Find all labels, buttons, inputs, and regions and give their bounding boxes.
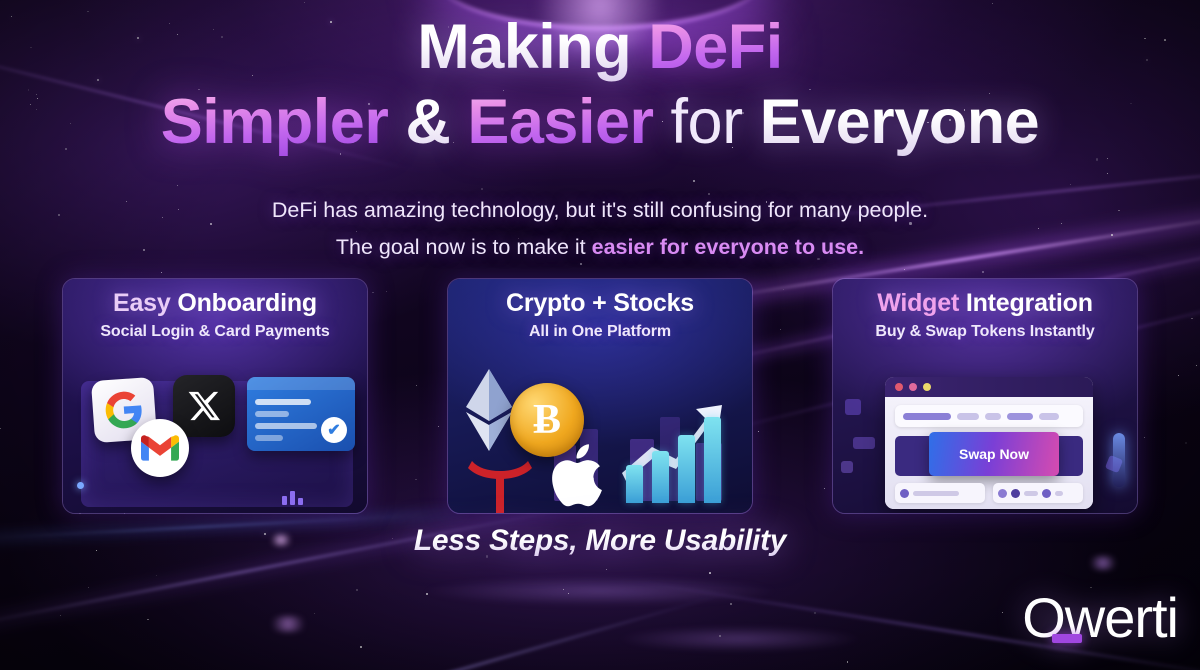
card-title: Widget Integration — [841, 289, 1129, 318]
subtitle: DeFi has amazing technology, but it's st… — [0, 192, 1200, 266]
headline-ampersand: & — [388, 87, 467, 157]
headline-easier: Easier — [467, 87, 653, 157]
card-subtitle: All in One Platform — [456, 323, 744, 341]
headline-line-2: Simpler & Easier for Everyone — [0, 91, 1200, 154]
apple-icon — [548, 441, 614, 511]
headline-simpler: Simpler — [161, 87, 389, 157]
feature-card-widget-integration[interactable]: Swap Now — [832, 278, 1138, 514]
card-text-block: Easy Onboarding Social Login & Card Paym… — [63, 279, 367, 513]
hero-banner: Making DeFi Simpler & Easier for Everyon… — [0, 0, 1200, 670]
card-title-part-b: Integration — [966, 289, 1093, 317]
headline-for: for — [654, 87, 760, 157]
subtitle-line-2-prefix: The goal now is to make it — [336, 235, 592, 259]
feature-card-easy-onboarding[interactable]: ✔ Easy Onboarding Social Login & Card Pa… — [62, 278, 368, 514]
card-title-part-a: Crypto — [506, 289, 592, 317]
logo-underline-accent — [1052, 634, 1082, 643]
headline-making: Making — [417, 12, 648, 82]
headline-everyone: Everyone — [760, 87, 1040, 157]
card-subtitle: Buy & Swap Tokens Instantly — [841, 323, 1129, 341]
feature-card-list: ✔ Easy Onboarding Social Login & Card Pa… — [62, 278, 1138, 514]
card-title: Easy Onboarding — [71, 289, 359, 318]
card-title: Crypto + Stocks — [456, 289, 744, 318]
tagline: Less Steps, More Usability — [0, 524, 1200, 558]
brand-logo[interactable]: Owerti — [1022, 585, 1178, 650]
headline-defi: DeFi — [648, 12, 783, 82]
feature-card-crypto-stocks[interactable]: Ƀ — [447, 278, 753, 514]
card-title-part-a: Widget — [877, 289, 966, 317]
subtitle-line-2: The goal now is to make it easier for ev… — [0, 229, 1200, 266]
card-text-block: Widget Integration Buy & Swap Tokens Ins… — [833, 279, 1137, 513]
card-title-part-b: Onboarding — [177, 289, 317, 317]
subtitle-highlight: easier for everyone to use. — [592, 235, 864, 259]
card-subtitle: Social Login & Card Payments — [71, 323, 359, 341]
page-title: Making DeFi Simpler & Easier for Everyon… — [0, 16, 1200, 154]
subtitle-line-1: DeFi has amazing technology, but it's st… — [0, 192, 1200, 229]
brand-logo-text: Owerti — [1022, 586, 1178, 649]
card-title-part-a: Easy — [113, 289, 177, 317]
gmail-icon — [131, 419, 189, 477]
card-title-part-b: + Stocks — [592, 289, 694, 317]
headline-line-1: Making DeFi — [0, 16, 1200, 79]
